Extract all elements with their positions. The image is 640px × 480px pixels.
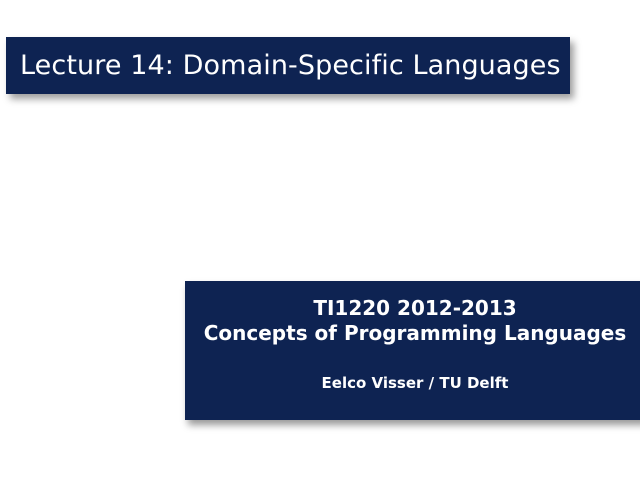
slide-title-banner: Lecture 14: Domain-Specific Languages — [6, 37, 570, 94]
course-name: Concepts of Programming Languages — [203, 321, 627, 346]
author-affiliation: Eelco Visser / TU Delft — [203, 374, 627, 393]
slide-title: Lecture 14: Domain-Specific Languages — [20, 52, 561, 79]
course-code: TI1220 2012-2013 — [203, 296, 627, 321]
slide-canvas: Lecture 14: Domain-Specific Languages TI… — [0, 0, 640, 480]
slide-info-panel: TI1220 2012-2013 Concepts of Programming… — [185, 281, 640, 420]
